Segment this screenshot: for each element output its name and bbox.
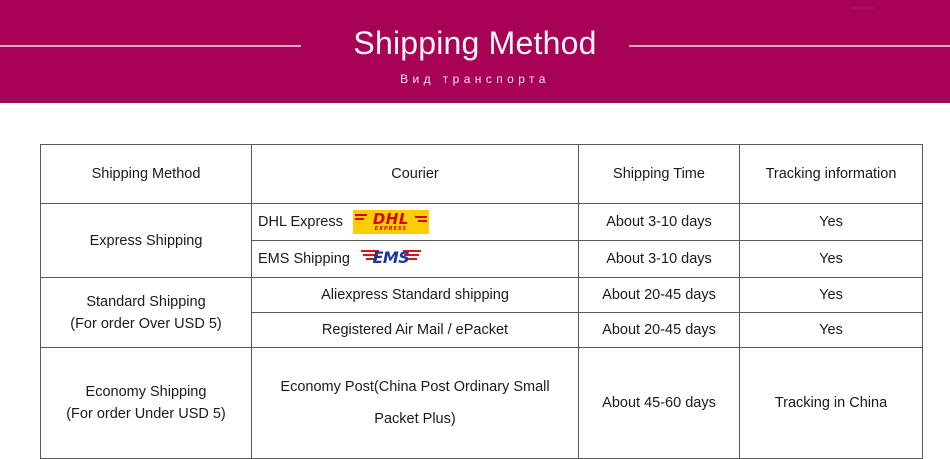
cell-method-express: Express Shipping	[41, 204, 252, 278]
method-standard-line-2: (For order Over USD 5)	[47, 313, 245, 335]
ems-logo: EMS	[360, 247, 422, 271]
ems-logo-wordmark: EMS	[360, 249, 422, 267]
shipping-table-wrapper: Shipping Method Courier Shipping Time Tr…	[40, 144, 922, 459]
banner-artifact	[852, 6, 874, 10]
table-header-row: Shipping Method Courier Shipping Time Tr…	[41, 145, 923, 204]
shipping-methods-table: Shipping Method Courier Shipping Time Tr…	[40, 144, 923, 459]
table-row: Express Shipping DHL Express DHL EXPRESS	[41, 204, 923, 241]
header-shipping-time: Shipping Time	[579, 145, 740, 204]
courier-economy-line-2: Packet Plus)	[258, 403, 572, 435]
method-standard-line-1: Standard Shipping	[47, 291, 245, 313]
cell-courier-economy-post: Economy Post(China Post Ordinary Small P…	[252, 348, 579, 459]
cell-courier-ems: EMS Shipping EMS	[252, 241, 579, 278]
cell-method-economy: Economy Shipping (For order Under USD 5)	[41, 348, 252, 459]
page-title: Shipping Method	[0, 23, 950, 63]
table-row: Economy Shipping (For order Under USD 5)…	[41, 348, 923, 459]
dhl-logo-subtext: EXPRESS	[353, 226, 429, 232]
header-tracking-information: Tracking information	[740, 145, 923, 204]
banner-bottom-strip	[0, 97, 950, 103]
method-economy-line-1: Economy Shipping	[47, 381, 245, 403]
courier-name-ems: EMS Shipping	[258, 251, 350, 267]
cell-time-ems: About 3-10 days	[579, 241, 740, 278]
shipping-method-page: Shipping Method Вид транспорта Shipping …	[0, 0, 950, 454]
method-economy-line-2: (For order Under USD 5)	[47, 403, 245, 425]
cell-time-economy: About 45-60 days	[579, 348, 740, 459]
cell-tracking-registered-air-mail: Yes	[740, 313, 923, 348]
cell-tracking-dhl: Yes	[740, 204, 923, 241]
header-courier: Courier	[252, 145, 579, 204]
cell-tracking-aliexpress: Yes	[740, 278, 923, 313]
cell-tracking-economy: Tracking in China	[740, 348, 923, 459]
header-shipping-method: Shipping Method	[41, 145, 252, 204]
cell-courier-registered-air-mail: Registered Air Mail / ePacket	[252, 313, 579, 348]
cell-method-standard: Standard Shipping (For order Over USD 5)	[41, 278, 252, 348]
page-banner: Shipping Method Вид транспорта	[0, 0, 950, 103]
cell-time-dhl: About 3-10 days	[579, 204, 740, 241]
courier-economy-line-1: Economy Post(China Post Ordinary Small	[258, 371, 572, 403]
cell-courier-aliexpress: Aliexpress Standard shipping	[252, 278, 579, 313]
dhl-logo-wordmark: DHL	[353, 211, 429, 227]
cell-time-aliexpress: About 20-45 days	[579, 278, 740, 313]
courier-name-dhl: DHL Express	[258, 214, 343, 230]
cell-time-registered-air-mail: About 20-45 days	[579, 313, 740, 348]
cell-courier-dhl: DHL Express DHL EXPRESS	[252, 204, 579, 241]
cell-tracking-ems: Yes	[740, 241, 923, 278]
page-subtitle: Вид транспорта	[0, 71, 950, 87]
dhl-logo: DHL EXPRESS	[353, 210, 429, 234]
table-row: Standard Shipping (For order Over USD 5)…	[41, 278, 923, 313]
